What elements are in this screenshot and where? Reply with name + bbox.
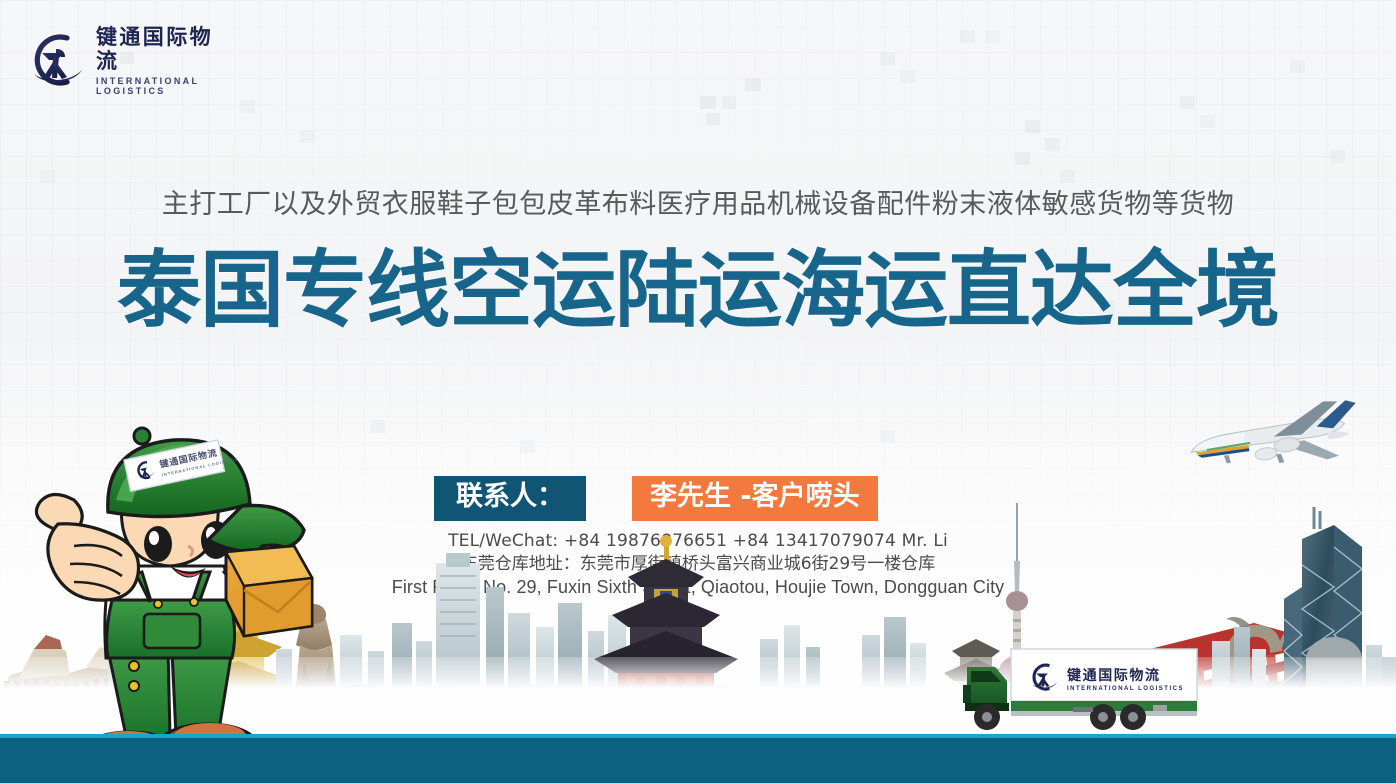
circular-runner-emblem-icon xyxy=(20,29,86,91)
brand-logo-text: 键通国际物流 INTERNATIONAL LOGISTICS xyxy=(96,24,235,95)
truck-logo-en: INTERNATIONAL LOGISTICS xyxy=(1067,686,1184,692)
brand-logo[interactable]: 键通国际物流 INTERNATIONAL LOGISTICS xyxy=(20,26,235,94)
hero-subtitle: 主打工厂以及外贸衣服鞋子包包皮革布料医疗用品机械设备配件粉末液体敏感货物等货物 xyxy=(0,182,1396,221)
banner-stage: 键通国际物流 INTERNATIONAL LOGISTICS 主打工厂以及外贸衣… xyxy=(0,0,1396,783)
brand-name-cn: 键通国际物流 xyxy=(96,26,235,73)
hero-headline: 泰国专线空运陆运海运直达全境 xyxy=(0,243,1396,337)
truck-logo-cn: 键通国际物流 xyxy=(1066,667,1161,684)
delivery-truck-icon: 键通国际物流 INTERNATIONAL LOGISTICS xyxy=(963,641,1223,739)
footer-bar xyxy=(0,738,1396,783)
brand-name-en: INTERNATIONAL LOGISTICS xyxy=(96,76,235,96)
cargo-airplane-icon xyxy=(1178,396,1378,482)
delivery-mascot-thumbs-up-icon: 键通国际物流 INTERNATIONAL LOGISTICS xyxy=(12,404,342,776)
